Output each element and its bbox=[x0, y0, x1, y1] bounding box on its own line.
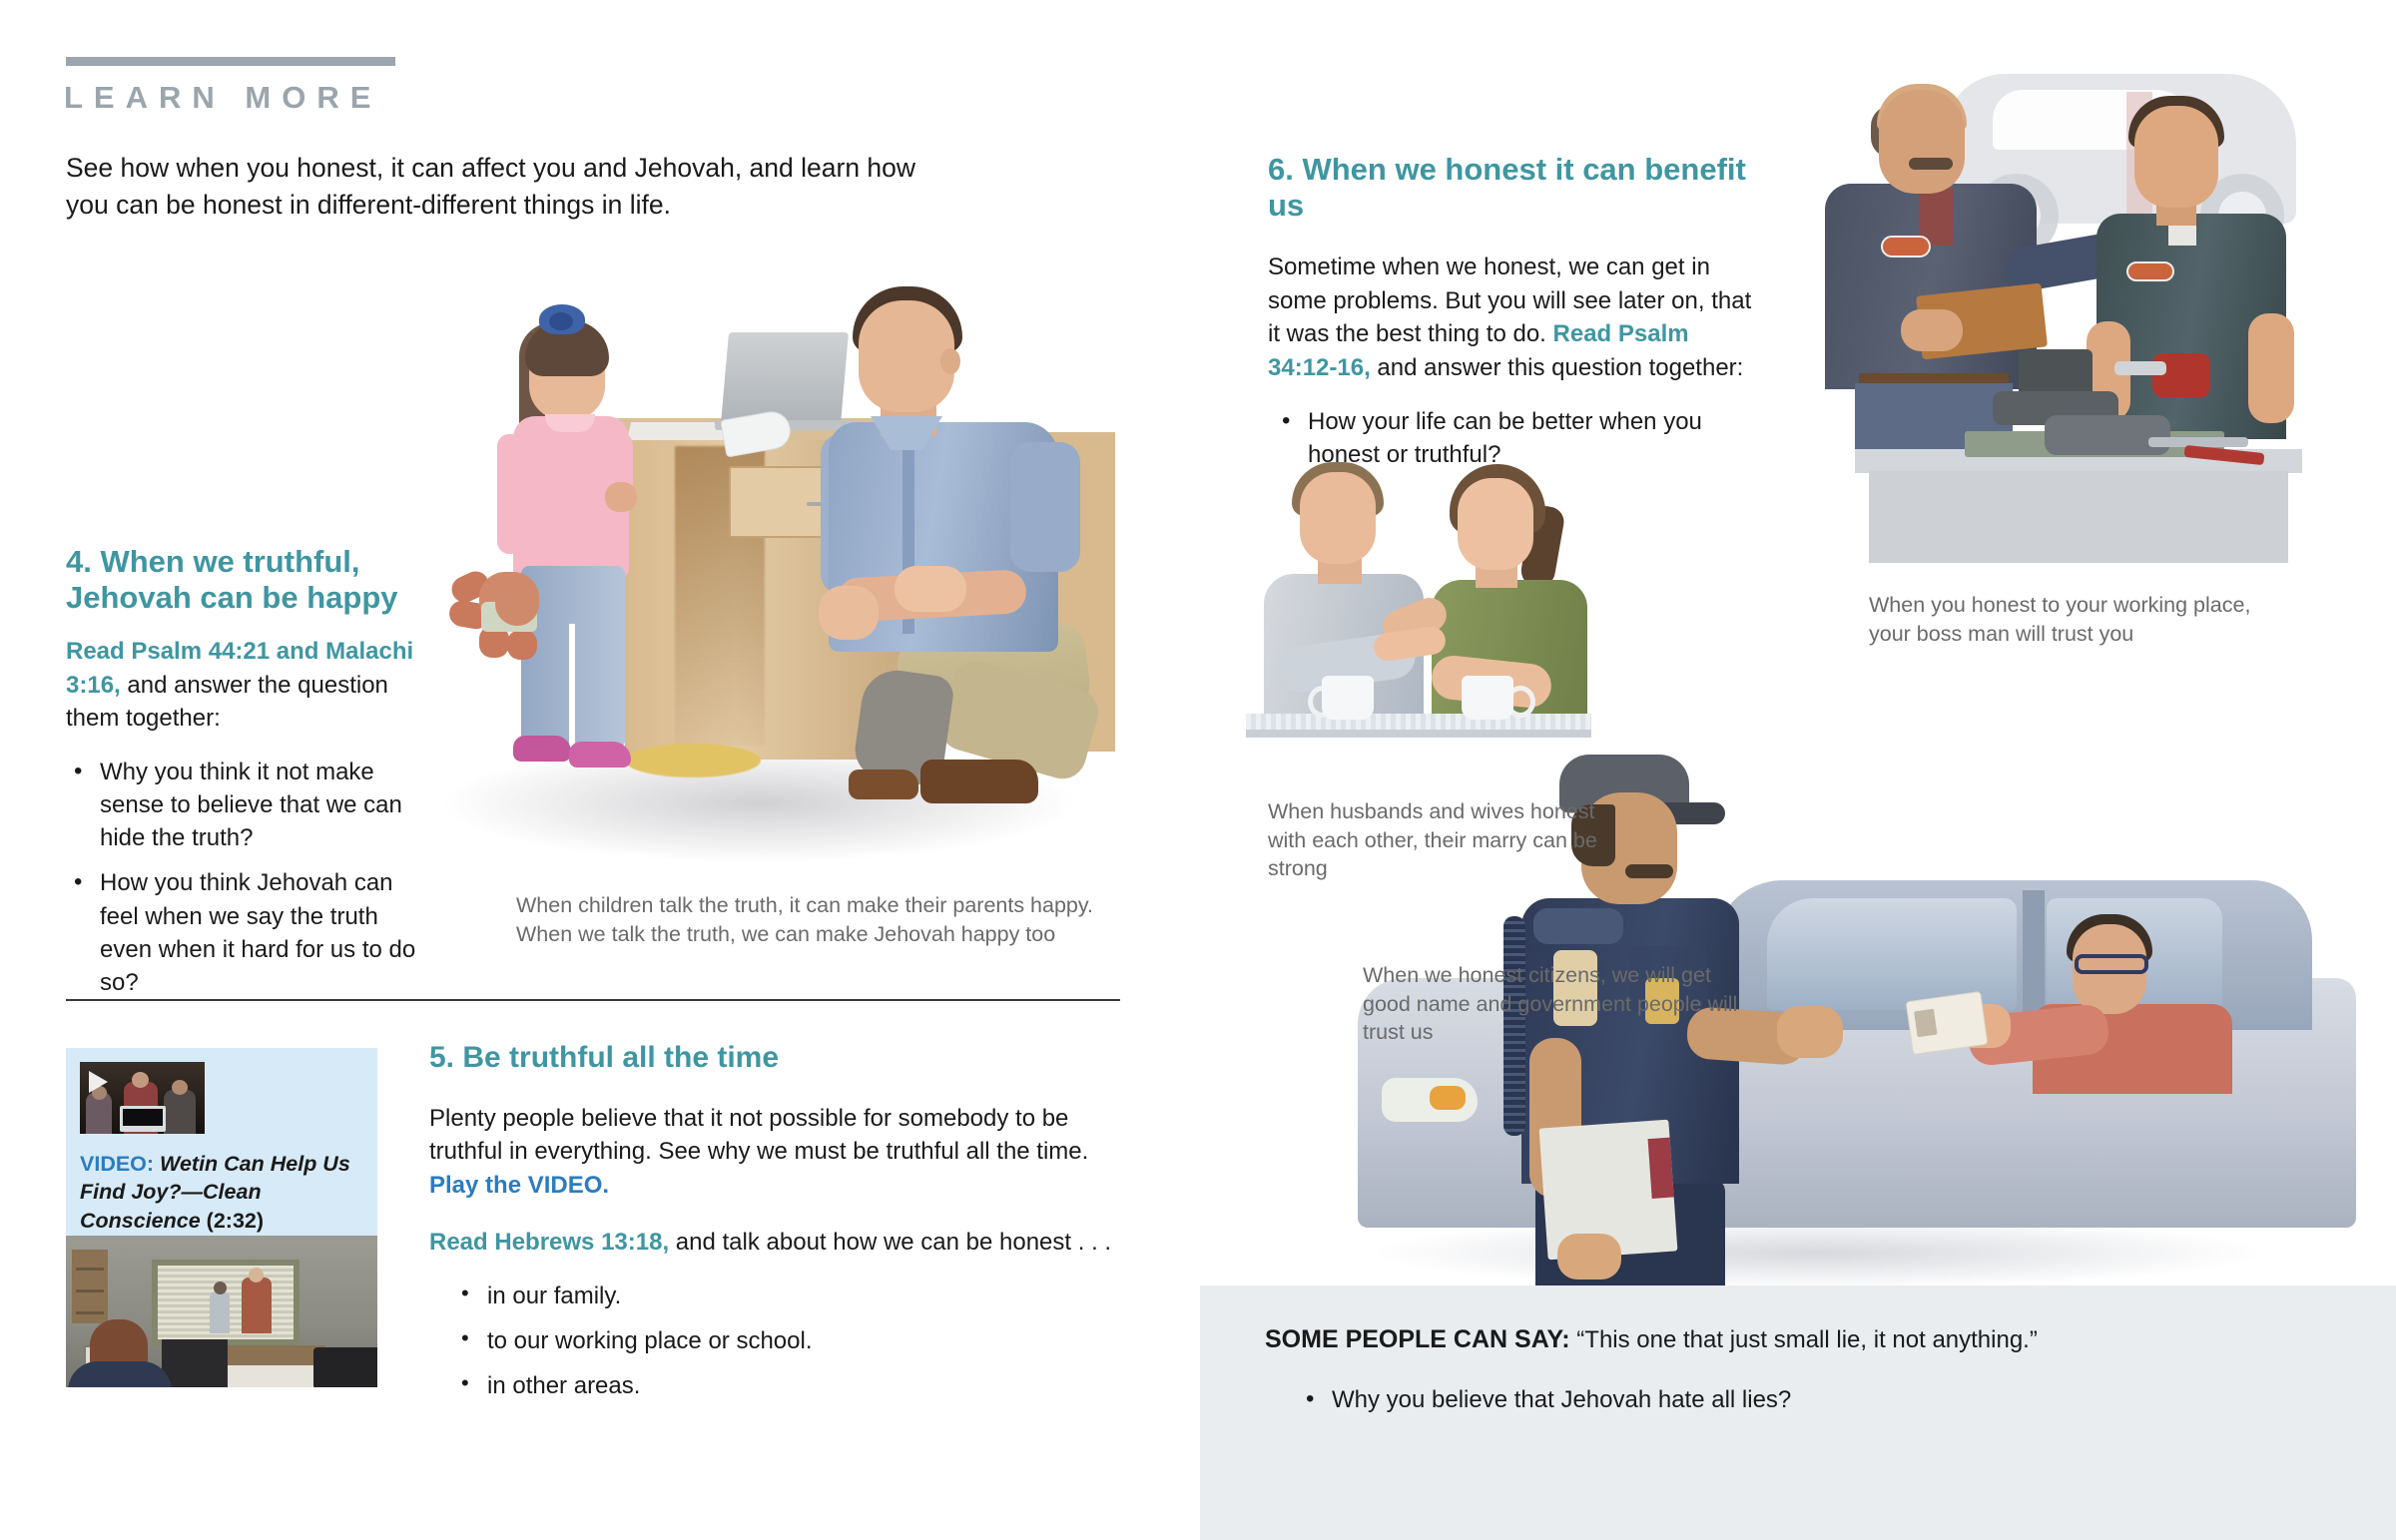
family-illustration bbox=[429, 274, 1118, 883]
couple-illustration bbox=[1246, 454, 1591, 754]
section-5-scripture[interactable]: Read Hebrews 13:18, bbox=[429, 1229, 669, 1256]
video-card[interactable]: VIDEO: Wetin Can Help Us Find Joy?—Clean… bbox=[66, 1048, 377, 1255]
play-the-video-link[interactable]: Play the VIDEO. bbox=[429, 1172, 609, 1199]
list-item: to our working place or school. bbox=[487, 1324, 1128, 1357]
section-6-heading: 6. When we honest it can benefit us bbox=[1268, 152, 1757, 223]
video-thumbnail[interactable] bbox=[80, 1062, 205, 1134]
section-5-paragraph: Plenty people believe that it not possib… bbox=[429, 1102, 1128, 1203]
section-divider bbox=[66, 999, 1120, 1001]
section-5-heading: 5. Be truthful all the time bbox=[429, 1041, 1128, 1076]
family-caption: When children talk the truth, it can mak… bbox=[516, 891, 1135, 948]
play-icon[interactable] bbox=[89, 1071, 108, 1093]
banner-bullets: Why you believe that Jehovah hate all li… bbox=[1298, 1383, 2330, 1428]
section-4: 4. When we truthful, Jehovah can be happ… bbox=[66, 544, 425, 1011]
list-item: How you think Jehovah can feel when we s… bbox=[100, 866, 425, 998]
list-item: Why you believe that Jehovah hate all li… bbox=[1332, 1383, 2330, 1416]
list-item: in other areas. bbox=[487, 1369, 1128, 1402]
list-item: in our family. bbox=[487, 1280, 1128, 1312]
marriage-caption: When husbands and wives honest with each… bbox=[1268, 797, 1597, 883]
video-caption: VIDEO: Wetin Can Help Us Find Joy?—Clean… bbox=[80, 1150, 363, 1235]
workplace-illustration bbox=[1797, 62, 2316, 561]
citizen-caption: When we honest citizens, we will get goo… bbox=[1363, 961, 1762, 1047]
section-5-read-line: Read Hebrews 13:18, and talk about how w… bbox=[429, 1226, 1128, 1260]
workplace-caption: When you honest to your working place, y… bbox=[1869, 591, 2288, 648]
section-6: 6. When we honest it can benefit us Some… bbox=[1268, 152, 1757, 483]
video-label: VIDEO: bbox=[80, 1152, 154, 1176]
section-5-text: Plenty people believe that it not possib… bbox=[429, 1105, 1088, 1166]
banner-heading: SOME PEOPLE CAN SAY: “This one that just… bbox=[1265, 1323, 2363, 1357]
section-5-bullets: in our family. to our working place or s… bbox=[429, 1280, 1128, 1402]
section-4-heading: 4. When we truthful, Jehovah can be happ… bbox=[66, 544, 425, 615]
video-duration: (2:32) bbox=[207, 1209, 264, 1233]
intro-paragraph: See how when you honest, it can affect y… bbox=[66, 150, 964, 223]
header-rule bbox=[66, 57, 395, 66]
section-4-bullets: Why you think it not make sense to belie… bbox=[66, 756, 425, 999]
section-5-read-rest: and talk about how we can be honest . . … bbox=[669, 1229, 1111, 1256]
list-item: Why you think it not make sense to belie… bbox=[100, 756, 425, 854]
section-6-paragraph: Sometime when we honest, we can get in s… bbox=[1268, 251, 1757, 384]
classroom-photo bbox=[66, 1236, 377, 1387]
some-people-say-banner: SOME PEOPLE CAN SAY: “This one that just… bbox=[1200, 1285, 2396, 1540]
banner-quote: “This one that just small lie, it not an… bbox=[1570, 1326, 2038, 1353]
banner-lead: SOME PEOPLE CAN SAY: bbox=[1265, 1325, 1570, 1353]
section-5: 5. Be truthful all the time Plenty peopl… bbox=[429, 1041, 1128, 1414]
section-4-lead: Read Psalm 44:21 and Malachi 3:16, and a… bbox=[66, 635, 425, 736]
learn-more-kicker: LEARN MORE bbox=[64, 80, 381, 116]
section-6-text-post: and answer this question together: bbox=[1371, 354, 1744, 381]
learn-more-page: LEARN MORE See how when you honest, it c… bbox=[0, 0, 2396, 1540]
